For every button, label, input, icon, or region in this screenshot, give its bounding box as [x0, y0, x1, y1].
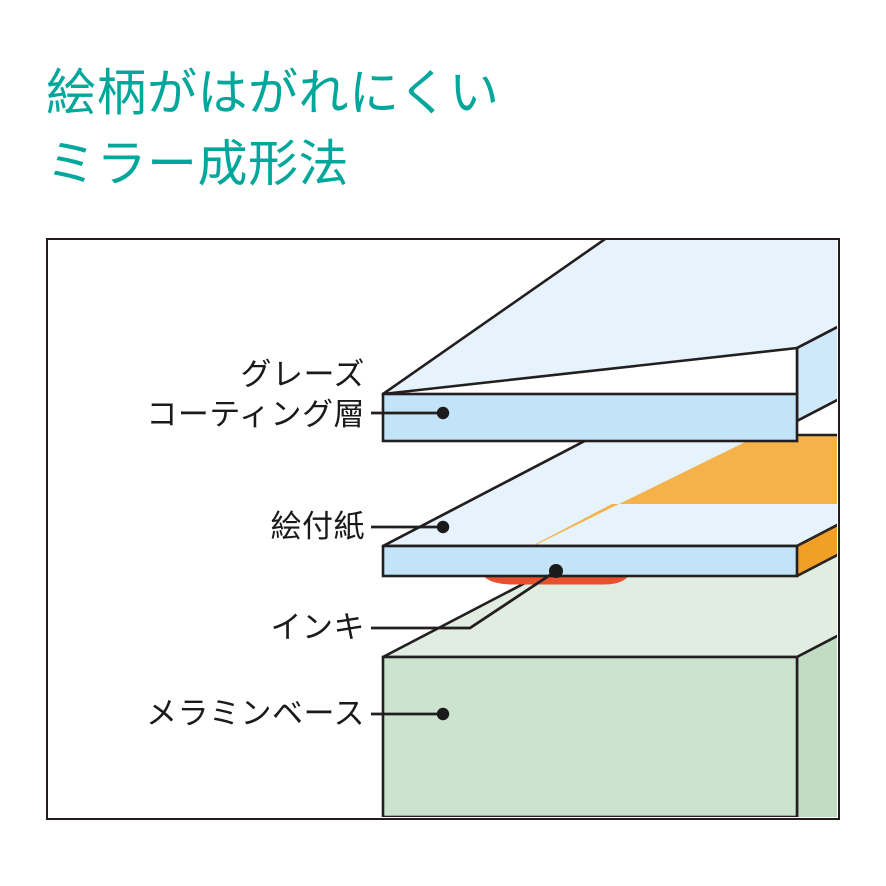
label-melamine-base: メラミンベース [0, 694, 365, 734]
label-glaze-coating-line1: グレーズ [0, 355, 365, 395]
label-group: グレーズ コーティング層 絵付紙 インキ メラミンベース [0, 0, 886, 886]
label-ink: インキ [0, 608, 365, 648]
label-glaze-coating-line2: コーティング層 [0, 395, 365, 435]
label-glaze-coating: グレーズ コーティング層 [0, 355, 365, 436]
label-ink-text: インキ [0, 608, 365, 648]
label-printed-paper: 絵付紙 [0, 507, 365, 547]
diagram-page: 絵柄がはがれにくい ミラー成形法 [0, 0, 886, 886]
label-melamine-base-text: メラミンベース [0, 694, 365, 734]
label-printed-paper-text: 絵付紙 [0, 507, 365, 547]
